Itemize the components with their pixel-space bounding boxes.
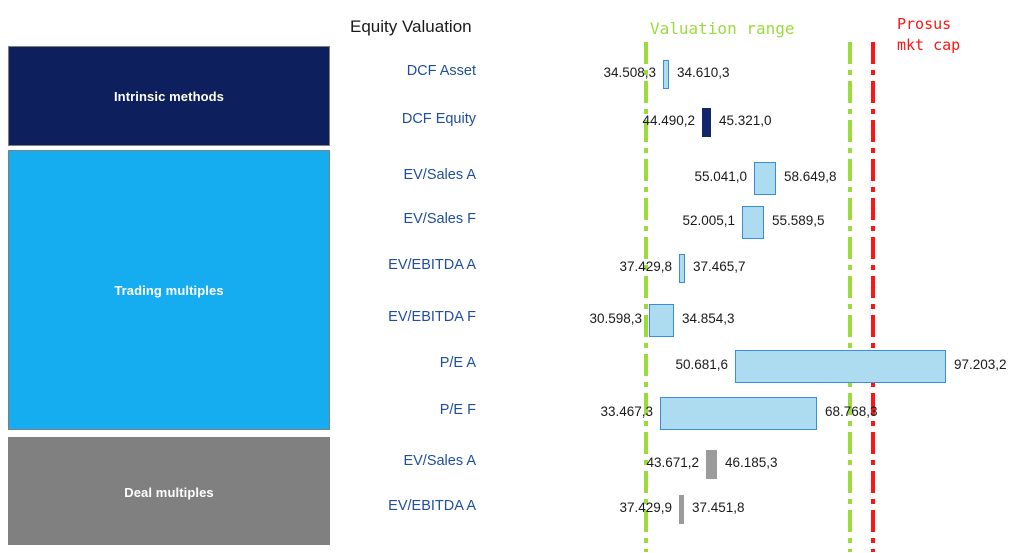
valuation-row: P/E F33.467,368.768,3: [0, 393, 1022, 433]
range-bar: [679, 495, 684, 524]
range-bar: [754, 162, 776, 195]
range-bar: [660, 397, 817, 430]
legend-prosus-mkt-cap: Prosus mkt cap: [897, 14, 960, 56]
row-high-value: 37.465,7: [693, 259, 746, 274]
row-label: EV/Sales F: [403, 211, 476, 227]
row-high-value: 34.854,3: [682, 311, 735, 326]
row-low-value: 37.429,9: [619, 500, 672, 515]
range-bar: [735, 350, 946, 383]
range-bar: [702, 108, 711, 137]
row-label: DCF Equity: [402, 111, 476, 127]
row-low-value: 30.598,3: [589, 311, 642, 326]
row-low-value: 52.005,1: [682, 213, 735, 228]
row-high-value: 58.649,8: [784, 169, 837, 184]
row-low-value: 44.490,2: [642, 113, 695, 128]
row-high-value: 34.610,3: [677, 65, 730, 80]
valuation-row: EV/EBITDA F30.598,334.854,3: [0, 300, 1022, 340]
legend-prosus-line1: Prosus: [897, 14, 960, 35]
row-low-value: 50.681,6: [675, 357, 728, 372]
row-low-value: 33.467,3: [600, 404, 653, 419]
row-label: EV/Sales A: [403, 167, 476, 183]
valuation-row: EV/EBITDA A37.429,837.465,7: [0, 248, 1022, 288]
row-high-value: 68.768,3: [825, 404, 878, 419]
range-bar: [649, 304, 674, 337]
row-high-value: 55.589,5: [772, 213, 825, 228]
valuation-row: EV/EBITDA A37.429,937.451,8: [0, 489, 1022, 529]
row-high-value: 46.185,3: [725, 455, 778, 470]
row-high-value: 37.451,8: [692, 500, 745, 515]
row-low-value: 34.508,3: [603, 65, 656, 80]
row-label: EV/EBITDA A: [388, 498, 476, 514]
row-high-value: 97.203,2: [954, 357, 1007, 372]
valuation-row: DCF Equity44.490,245.321,0: [0, 102, 1022, 142]
valuation-row: EV/Sales F52.005,155.589,5: [0, 202, 1022, 242]
row-low-value: 55.041,0: [694, 169, 747, 184]
range-bar: [663, 60, 669, 89]
valuation-row: EV/Sales A43.671,246.185,3: [0, 444, 1022, 484]
row-high-value: 45.321,0: [719, 113, 772, 128]
row-label: P/E A: [440, 355, 476, 371]
valuation-row: P/E A50.681,697.203,2: [0, 346, 1022, 386]
valuation-row: DCF Asset34.508,334.610,3: [0, 54, 1022, 94]
row-label: P/E F: [440, 402, 476, 418]
valuation-chart: Intrinsic methods Trading multiples Deal…: [0, 0, 1022, 553]
range-bar: [679, 254, 685, 283]
row-label: DCF Asset: [407, 63, 476, 79]
row-low-value: 43.671,2: [646, 455, 699, 470]
row-label: EV/EBITDA A: [388, 257, 476, 273]
legend-prosus-line2: mkt cap: [897, 35, 960, 56]
row-low-value: 37.429,8: [619, 259, 672, 274]
valuation-row: EV/Sales A55.041,058.649,8: [0, 158, 1022, 198]
row-label: EV/Sales A: [403, 453, 476, 469]
legend-valuation-range: Valuation range: [650, 19, 795, 38]
row-label: EV/EBITDA F: [388, 309, 476, 325]
range-bar: [706, 450, 717, 479]
range-bar: [742, 206, 764, 239]
chart-title: Equity Valuation: [350, 17, 472, 37]
